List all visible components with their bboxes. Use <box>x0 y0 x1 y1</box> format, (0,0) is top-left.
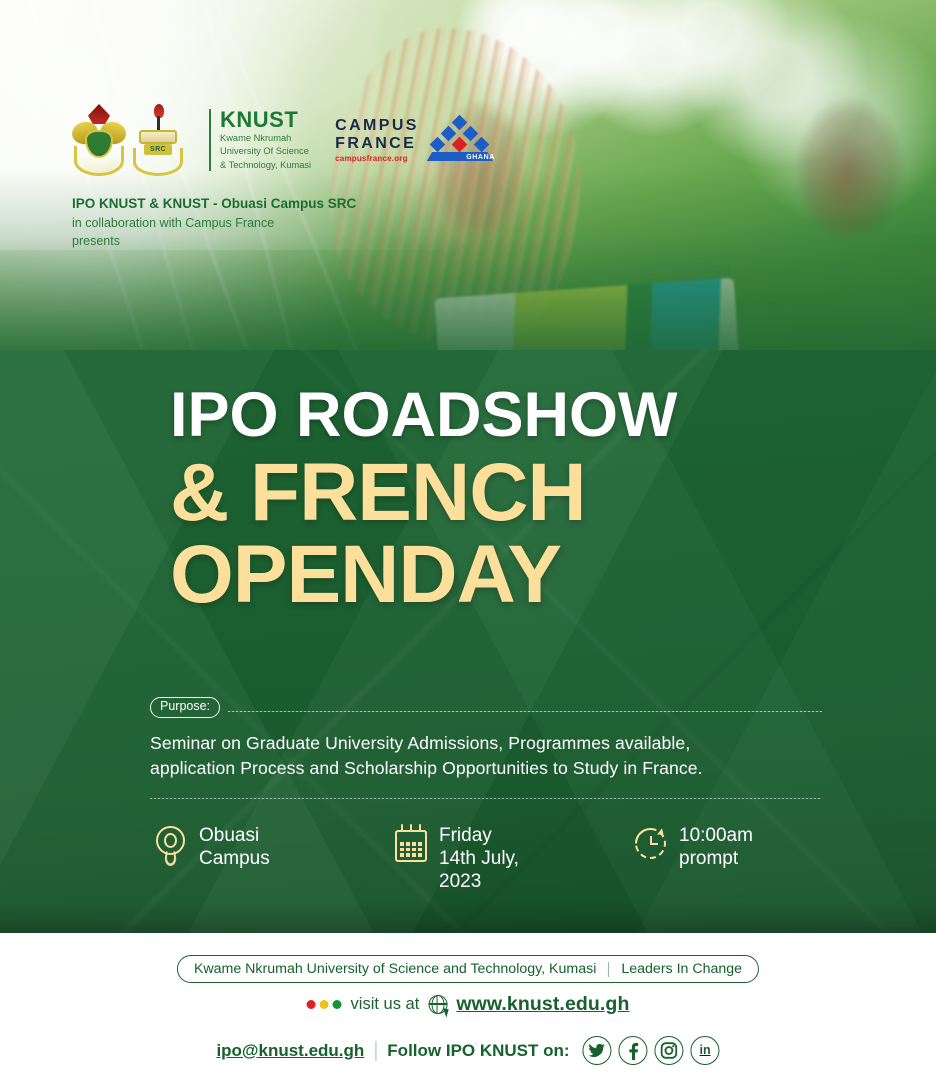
campus-france-country-label: GHANA <box>466 154 495 161</box>
presenter-line3: presents <box>72 232 497 250</box>
purpose-header-row: Purpose: <box>150 697 822 718</box>
campus-france-url: campusfrance.org <box>335 154 419 163</box>
knust-crest-group: SRC <box>72 104 185 176</box>
detail-date-line1: Friday <box>439 825 519 848</box>
facebook-icon[interactable] <box>619 1036 648 1065</box>
purpose-section: Purpose: Seminar on Graduate University … <box>150 697 822 781</box>
contact-social-row: ipo@knust.edu.gh Follow IPO KNUST on: <box>216 1036 719 1065</box>
pill-divider <box>608 962 609 977</box>
poster-header: SRC KNUST Kwame Nkrumah University Of Sc… <box>72 104 497 250</box>
detail-time-text: 10:00am prompt <box>679 824 753 871</box>
detail-date-text: Friday 14th July, 2023 <box>439 824 519 893</box>
detail-location-text: Obuasi Campus <box>199 824 270 871</box>
title-line-1: IPO ROADSHOW <box>170 385 678 447</box>
campus-france-line1: CAMPUS <box>335 118 419 134</box>
university-name-label: Kwame Nkrumah University of Science and … <box>194 961 596 977</box>
twitter-icon[interactable] <box>583 1036 612 1065</box>
clock-icon <box>632 824 670 868</box>
knust-university-crest-icon <box>72 104 126 176</box>
title-line-2: & FRENCH <box>170 453 678 533</box>
knust-wordmark-line3: & Technology, Kumasi <box>220 160 311 172</box>
presenter-line1: IPO KNUST & KNUST - Obuasi Campus SRC <box>72 194 497 214</box>
campus-france-line2: FRANCE <box>335 136 419 152</box>
title-line-3: OPENDAY <box>170 535 678 615</box>
knust-wordmark: KNUST Kwame Nkrumah University Of Scienc… <box>209 109 311 172</box>
detail-location-line1: Obuasi <box>199 825 270 848</box>
email-link[interactable]: ipo@knust.edu.gh <box>216 1041 364 1061</box>
campus-france-wordmark: CAMPUS FRANCE campusfrance.org <box>335 118 419 163</box>
detail-date-line3: 2023 <box>439 871 519 894</box>
detail-location-line2: Campus <box>199 848 270 871</box>
crest-cap-shape <box>88 104 110 124</box>
detail-time-line1: 10:00am <box>679 825 753 848</box>
visit-label: visit us at <box>351 995 420 1014</box>
event-title: IPO ROADSHOW & FRENCH OPENDAY <box>170 385 678 615</box>
ghana-color-dots <box>307 1000 342 1009</box>
poster-footer: Kwame Nkrumah University of Science and … <box>0 933 936 1080</box>
purpose-divider <box>228 711 822 712</box>
purpose-badge: Purpose: <box>150 697 220 718</box>
university-tagline-pill: Kwame Nkrumah University of Science and … <box>177 955 759 983</box>
purpose-text-line1: Seminar on Graduate University Admission… <box>150 733 690 753</box>
presenter-line2: in collaboration with Campus France <box>72 214 497 232</box>
green-panel-bottom-edge <box>0 899 936 933</box>
logo-row: SRC KNUST Kwame Nkrumah University Of Sc… <box>72 104 497 176</box>
linkedin-icon-label: in <box>700 1044 711 1057</box>
follow-label: Follow IPO KNUST on: <box>387 1041 569 1061</box>
detail-location: Obuasi Campus <box>152 824 392 893</box>
dot-yellow <box>320 1000 329 1009</box>
website-link[interactable]: www.knust.edu.gh <box>456 993 629 1016</box>
event-poster: SRC KNUST Kwame Nkrumah University Of Sc… <box>0 0 936 1080</box>
campus-france-diamond-pyramid-icon: GHANA <box>423 117 497 163</box>
event-details-row: Obuasi Campus Friday 14th July, 2023 <box>152 824 832 893</box>
details-top-divider <box>150 798 822 799</box>
purpose-text-line2: application Process and Scholarship Oppo… <box>150 756 822 781</box>
crest-scroll-arc-shape <box>74 146 124 176</box>
social-row-divider <box>375 1041 376 1061</box>
social-icon-group: in <box>583 1036 720 1065</box>
knust-wordmark-title: KNUST <box>220 109 311 131</box>
src-open-book-shape <box>139 130 177 144</box>
calendar-icon <box>392 824 430 868</box>
instagram-icon[interactable] <box>655 1036 684 1065</box>
knust-wordmark-line1: Kwame Nkrumah <box>220 133 311 145</box>
campus-france-logo: CAMPUS FRANCE campusfrance.org GHANA <box>335 117 497 163</box>
src-scroll-arc-shape <box>133 148 183 176</box>
detail-time: 10:00am prompt <box>632 824 832 893</box>
knust-wordmark-line2: University Of Science <box>220 146 311 158</box>
dot-red <box>307 1000 316 1009</box>
dot-green <box>333 1000 342 1009</box>
src-crest-icon: SRC <box>131 104 185 176</box>
presenter-block: IPO KNUST & KNUST - Obuasi Campus SRC in… <box>72 194 497 250</box>
linkedin-icon[interactable]: in <box>691 1036 720 1065</box>
globe-cursor-icon <box>428 995 447 1014</box>
detail-time-line2: prompt <box>679 848 753 871</box>
website-row: visit us at www.knust.edu.gh <box>307 993 630 1016</box>
location-pin-icon <box>152 824 190 868</box>
detail-date: Friday 14th July, 2023 <box>392 824 632 893</box>
university-motto-label: Leaders In Change <box>621 961 742 977</box>
detail-date-line2: 14th July, <box>439 848 519 871</box>
purpose-text: Seminar on Graduate University Admission… <box>150 731 822 781</box>
